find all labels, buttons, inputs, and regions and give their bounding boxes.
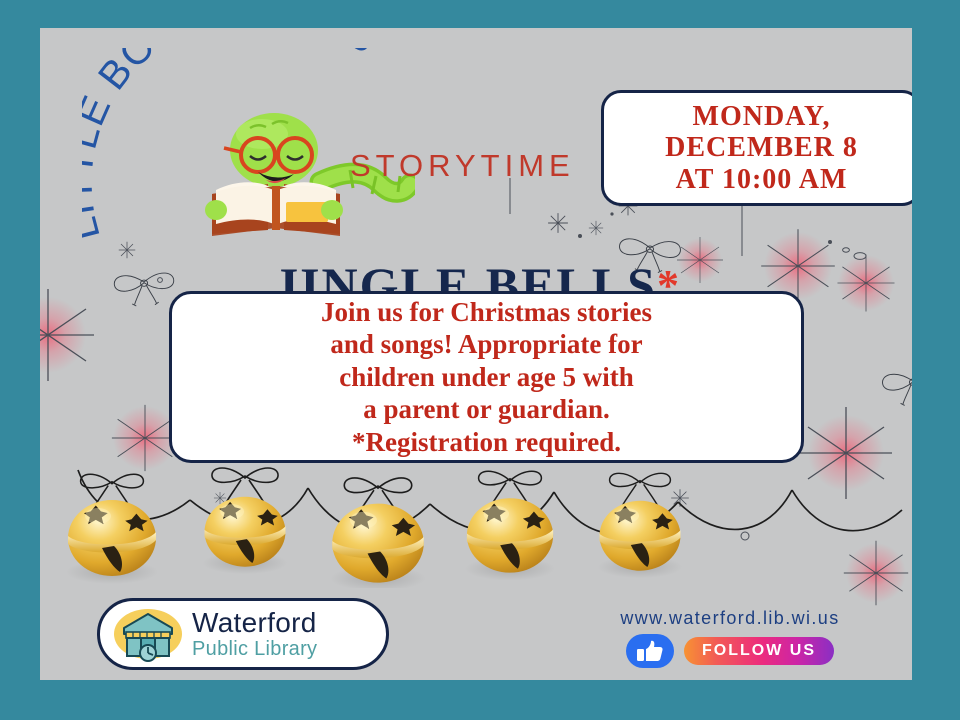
jingle-bell-icon: [203, 468, 288, 574]
instagram-follow-button[interactable]: FOLLOW US: [684, 637, 834, 665]
jingle-bells-row: [40, 458, 912, 588]
event-date-line-3: AT 10:00 AM: [676, 164, 848, 195]
jingle-bell-icon: [66, 474, 158, 584]
event-date-line-1: MONDAY,: [693, 101, 831, 132]
brand-logo: LITTLE BOOKWORMS: [82, 48, 592, 248]
library-name: Waterford: [192, 609, 317, 637]
thumbs-up-icon: [636, 639, 664, 663]
description-line-5: *Registration required.: [352, 426, 621, 458]
poster-canvas: LITTLE BOOKWORMS: [0, 0, 960, 720]
library-building-icon: [110, 606, 186, 662]
facebook-like-button[interactable]: [626, 634, 674, 668]
library-subtitle: Public Library: [192, 639, 317, 659]
social-links-row: FOLLOW US: [580, 634, 880, 668]
bow-icon: [882, 372, 912, 407]
website-url[interactable]: www.waterford.lib.wi.us: [580, 608, 880, 629]
event-date-line-2: DECEMBER 8: [665, 132, 858, 163]
description-line-3: children under age 5 with: [339, 361, 634, 393]
event-description-box: Join us for Christmas stories and songs!…: [169, 291, 804, 463]
poster-panel: LITTLE BOOKWORMS: [40, 28, 912, 680]
description-line-2: and songs! Appropriate for: [330, 328, 642, 360]
description-line-1: Join us for Christmas stories: [321, 296, 652, 328]
jingle-bell-icon: [598, 473, 683, 578]
description-line-4: a parent or guardian.: [363, 393, 610, 425]
storytime-label: STORYTIME: [350, 148, 575, 184]
jingle-bell-icon: [465, 471, 555, 580]
library-logo-card[interactable]: Waterford Public Library: [97, 598, 389, 670]
event-date-box: MONDAY, DECEMBER 8 AT 10:00 AM: [601, 90, 912, 206]
jingle-bell-icon: [330, 478, 426, 588]
